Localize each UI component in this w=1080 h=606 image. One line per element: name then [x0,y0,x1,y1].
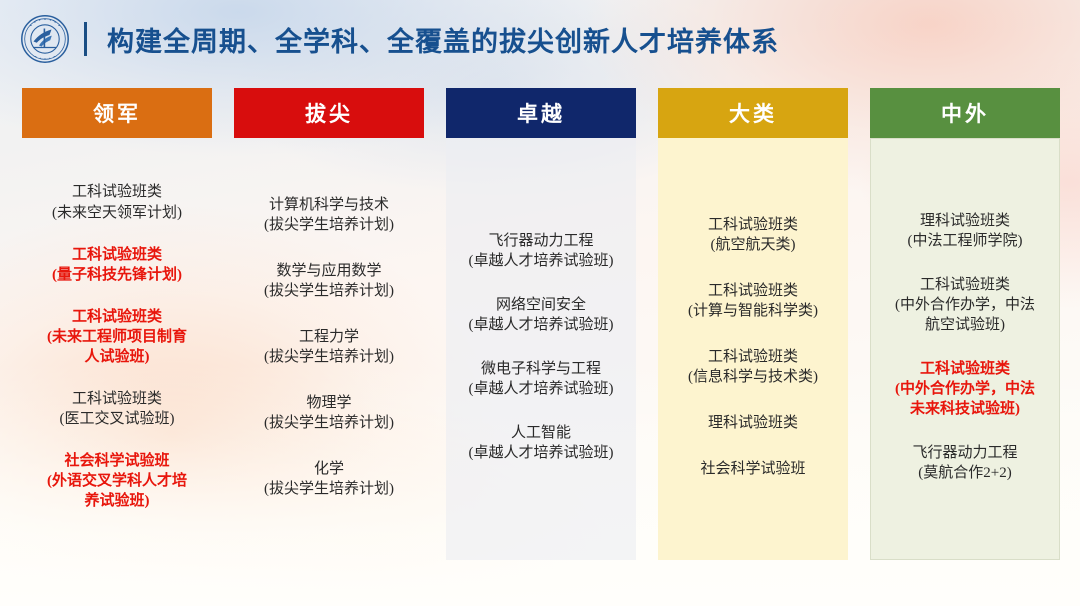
program-entry-line: 工科试验班类 [60,389,175,409]
program-entry: 工科试验班类(信息科学与技术类) [688,347,818,387]
program-entry-line: (航空航天类) [708,235,798,255]
program-entry-line: (计算与智能科学类) [688,301,818,321]
column-header-lingjun[interactable]: 领军 [22,88,212,138]
program-entry-line: 工科试验班类 [688,281,818,301]
program-entry-line: (莫航合作2+2) [912,463,1017,483]
program-entry: 工科试验班类(中外合作办学，中法未来科技试验班) [895,359,1035,419]
program-entry: 计算机科学与技术(拔尖学生培养计划) [264,195,394,235]
column-body-zhongwai: 理科试验班类(中法工程师学院)工科试验班类(中外合作办学，中法航空试验班)工科试… [870,138,1060,560]
program-column-dalei: 大类工科试验班类(航空航天类)工科试验班类(计算与智能科学类)工科试验班类(信息… [658,88,848,560]
slide-header: 构建全周期、全学科、全覆盖的拔尖创新人才培养体系 [0,0,1080,78]
program-entry: 工程力学(拔尖学生培养计划) [264,327,394,367]
program-entry-line: (卓越人才培养试验班) [469,443,614,463]
program-entry: 工科试验班类(航空航天类) [708,215,798,255]
program-entry: 工科试验班类(计算与智能科学类) [688,281,818,321]
column-body-lingjun: 工科试验班类(未来空天领军计划)工科试验班类(量子科技先锋计划)工科试验班类(未… [22,138,212,560]
program-entry-line: 人试验班) [47,347,187,367]
program-entry-line: (拔尖学生培养计划) [264,215,394,235]
program-entry: 理科试验班类 [708,413,798,433]
program-entry-line: (中外合作办学，中法 [895,379,1035,399]
column-body-bajian: 计算机科学与技术(拔尖学生培养计划)数学与应用数学(拔尖学生培养计划)工程力学(… [234,138,424,560]
program-column-zhongwai: 中外理科试验班类(中法工程师学院)工科试验班类(中外合作办学，中法航空试验班)工… [870,88,1060,560]
program-entry: 工科试验班类(未来工程师项目制育人试验班) [47,307,187,367]
program-columns: 领军工科试验班类(未来空天领军计划)工科试验班类(量子科技先锋计划)工科试验班类… [22,88,1060,560]
program-entry: 理科试验班类(中法工程师学院) [908,211,1023,251]
slide-root: 构建全周期、全学科、全覆盖的拔尖创新人才培养体系 领军工科试验班类(未来空天领军… [0,0,1080,606]
program-entry-line: (拔尖学生培养计划) [264,281,394,301]
program-entry: 工科试验班类(中外合作办学，中法航空试验班) [895,275,1035,335]
program-entry: 社会科学试验班(外语交叉学科人才培养试验班) [47,451,187,511]
program-entry-line: 飞行器动力工程 [912,443,1017,463]
program-entry: 物理学(拔尖学生培养计划) [264,393,394,433]
program-entry-line: (卓越人才培养试验班) [469,251,614,271]
program-entry-line: 微电子科学与工程 [469,359,614,379]
page-title: 构建全周期、全学科、全覆盖的拔尖创新人才培养体系 [107,20,779,59]
program-entry-line: (卓越人才培养试验班) [469,315,614,335]
program-entry-line: (医工交叉试验班) [60,409,175,429]
column-header-bajian[interactable]: 拔尖 [234,88,424,138]
program-entry-line: 未来科技试验班) [895,399,1035,419]
program-entry-line: (量子科技先锋计划) [52,265,182,285]
program-entry-line: 工科试验班类 [52,182,182,202]
program-entry-line: (卓越人才培养试验班) [469,379,614,399]
program-entry-line: 工科试验班类 [895,359,1035,379]
program-entry: 微电子科学与工程(卓越人才培养试验班) [469,359,614,399]
program-entry-line: 工科试验班类 [688,347,818,367]
program-entry-line: 计算机科学与技术 [264,195,394,215]
program-column-zhuoyue: 卓越飞行器动力工程(卓越人才培养试验班)网络空间安全(卓越人才培养试验班)微电子… [446,88,636,560]
program-entry-line: 社会科学试验班 [47,451,187,471]
program-column-bajian: 拔尖计算机科学与技术(拔尖学生培养计划)数学与应用数学(拔尖学生培养计划)工程力… [234,88,424,560]
program-entry-line: (拔尖学生培养计划) [264,347,394,367]
program-entry: 工科试验班类(医工交叉试验班) [60,389,175,429]
program-entry-line: 工科试验班类 [47,307,187,327]
program-entry: 社会科学试验班 [700,459,805,479]
program-entry-line: 养试验班) [47,491,187,511]
program-entry: 飞行器动力工程(莫航合作2+2) [912,443,1017,483]
column-body-dalei: 工科试验班类(航空航天类)工科试验班类(计算与智能科学类)工科试验班类(信息科学… [658,138,848,560]
header-divider [84,22,87,56]
program-entry-line: 工程力学 [264,327,394,347]
program-entry-line: 工科试验班类 [895,275,1035,295]
program-entry-line: 数学与应用数学 [264,261,394,281]
program-entry: 人工智能(卓越人才培养试验班) [469,423,614,463]
program-entry-line: (中法工程师学院) [908,231,1023,251]
program-entry: 数学与应用数学(拔尖学生培养计划) [264,261,394,301]
program-entry-line: 物理学 [264,393,394,413]
column-header-dalei[interactable]: 大类 [658,88,848,138]
program-entry: 工科试验班类(未来空天领军计划) [52,182,182,222]
program-entry-line: 工科试验班类 [52,245,182,265]
program-entry-line: (未来空天领军计划) [52,203,182,223]
program-entry-line: 航空试验班) [895,315,1035,335]
university-crest-icon [18,12,72,66]
program-entry-line: (拔尖学生培养计划) [264,413,394,433]
program-entry-line: (外语交叉学科人才培 [47,471,187,491]
program-entry: 化学(拔尖学生培养计划) [264,459,394,499]
program-entry-line: (信息科学与技术类) [688,367,818,387]
column-body-zhuoyue: 飞行器动力工程(卓越人才培养试验班)网络空间安全(卓越人才培养试验班)微电子科学… [446,138,636,560]
column-header-zhongwai[interactable]: 中外 [870,88,1060,138]
program-entry-line: (中外合作办学，中法 [895,295,1035,315]
program-entry-line: 理科试验班类 [908,211,1023,231]
program-entry: 工科试验班类(量子科技先锋计划) [52,245,182,285]
program-entry: 网络空间安全(卓越人才培养试验班) [469,295,614,335]
program-entry: 飞行器动力工程(卓越人才培养试验班) [469,231,614,271]
program-entry-line: 工科试验班类 [708,215,798,235]
program-entry-line: 化学 [264,459,394,479]
program-entry-line: 理科试验班类 [708,413,798,433]
program-entry-line: 飞行器动力工程 [469,231,614,251]
program-column-lingjun: 领军工科试验班类(未来空天领军计划)工科试验班类(量子科技先锋计划)工科试验班类… [22,88,212,560]
program-entry-line: 社会科学试验班 [700,459,805,479]
column-header-zhuoyue[interactable]: 卓越 [446,88,636,138]
program-entry-line: (拔尖学生培养计划) [264,479,394,499]
program-entry-line: (未来工程师项目制育 [47,327,187,347]
program-entry-line: 人工智能 [469,423,614,443]
program-entry-line: 网络空间安全 [469,295,614,315]
